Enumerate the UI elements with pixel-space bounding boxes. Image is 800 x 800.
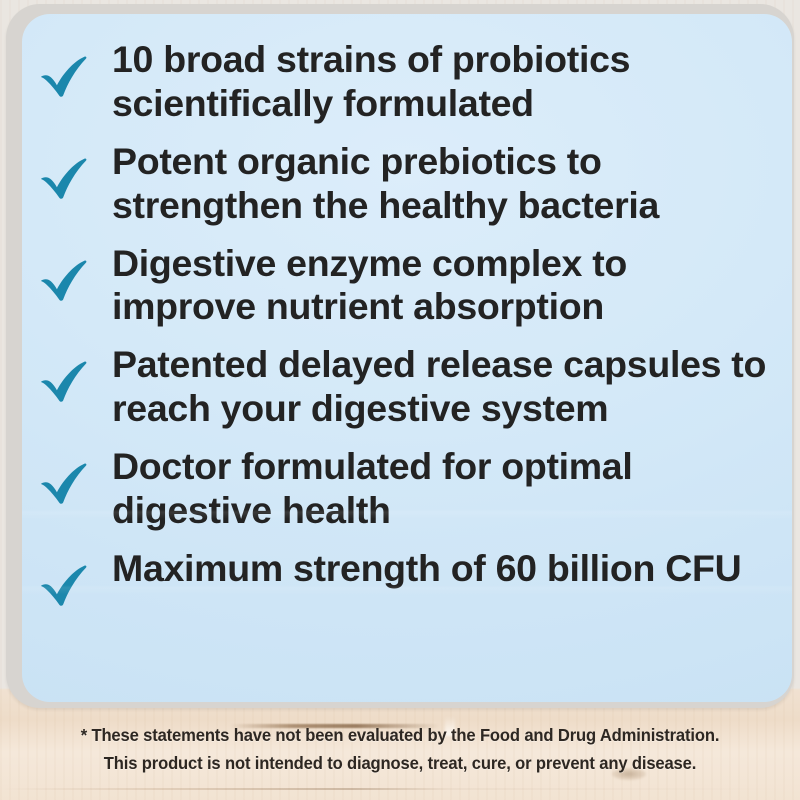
list-item: Maximum strength of 60 billion CFU	[22, 547, 792, 607]
check-icon	[38, 561, 90, 607]
feature-text: 10 broad strains of probiotics scientifi…	[112, 38, 792, 126]
list-item: Doctor formulated for optimal digestive …	[22, 445, 792, 533]
list-item: Potent organic prebiotics to strengthen …	[22, 140, 792, 228]
wood-plank-seam	[0, 788, 800, 790]
feature-text: Potent organic prebiotics to strengthen …	[112, 140, 792, 228]
feature-card: 10 broad strains of probiotics scientifi…	[22, 14, 792, 702]
check-icon-wrap	[38, 140, 112, 200]
disclaimer-line-2: This product is not intended to diagnose…	[14, 750, 786, 778]
feature-text: Doctor formulated for optimal digestive …	[112, 445, 792, 533]
feature-text: Patented delayed release capsules to rea…	[112, 343, 792, 431]
product-benefits-graphic: 10 broad strains of probiotics scientifi…	[0, 0, 800, 800]
list-item: Patented delayed release capsules to rea…	[22, 343, 792, 431]
check-icon-wrap	[38, 38, 112, 98]
check-icon-wrap	[38, 343, 112, 403]
check-icon	[38, 357, 90, 403]
feature-list: 10 broad strains of probiotics scientifi…	[22, 14, 792, 621]
feature-card-frame: 10 broad strains of probiotics scientifi…	[6, 4, 794, 708]
check-icon-wrap	[38, 547, 112, 607]
check-icon	[38, 154, 90, 200]
disclaimer-line-1: * These statements have not been evaluat…	[14, 722, 786, 750]
list-item: 10 broad strains of probiotics scientifi…	[22, 38, 792, 126]
check-icon-wrap	[38, 445, 112, 505]
feature-text: Maximum strength of 60 billion CFU	[112, 547, 792, 591]
feature-text: Digestive enzyme complex to improve nutr…	[112, 242, 792, 330]
check-icon	[38, 52, 90, 98]
check-icon	[38, 459, 90, 505]
disclaimer: * These statements have not been evaluat…	[14, 722, 786, 778]
check-icon-wrap	[38, 242, 112, 302]
check-icon	[38, 256, 90, 302]
list-item: Digestive enzyme complex to improve nutr…	[22, 242, 792, 330]
